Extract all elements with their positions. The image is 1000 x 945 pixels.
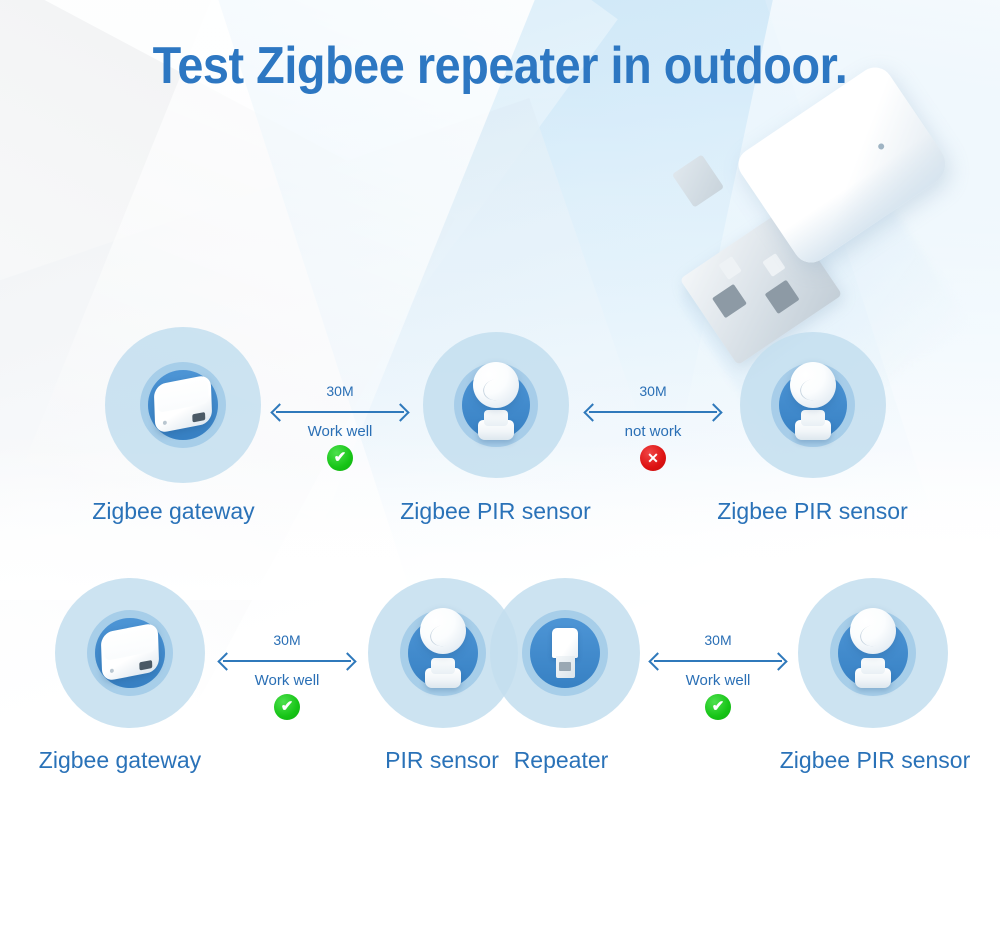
- link-distance-label: 30M: [219, 632, 355, 648]
- zigbee-pir-sensor-device: [418, 608, 468, 688]
- page-title: Test Zigbee repeater in outdoor.: [50, 36, 950, 96]
- pir-dome: [420, 608, 466, 654]
- promo-banner: Test Zigbee repeater in outdoor. Zigbee …: [0, 0, 1000, 945]
- arrow-head-right: [338, 652, 356, 670]
- link-status-label: Work well: [650, 672, 786, 689]
- link-distance-label: 30M: [650, 632, 786, 648]
- caption-zigbee-pir-sensor-row1-b: Zigbee PIR sensor: [639, 498, 986, 525]
- check-icon: ✔: [327, 445, 353, 471]
- zigbee-pir-sensor-device: [471, 362, 521, 440]
- node-zigbee-gateway-row1: [105, 327, 261, 483]
- pir-dome-seam: [858, 622, 889, 649]
- arrow-line: [223, 660, 351, 662]
- caption-zigbee-pir-sensor-row1-a: Zigbee PIR sensor: [322, 498, 669, 525]
- pir-neck: [431, 658, 455, 674]
- node-zigbee-pir-sensor-row1-b: [740, 332, 886, 478]
- pir-neck: [801, 410, 825, 426]
- repeater-housing: [552, 628, 578, 658]
- gateway-top-face: [157, 377, 209, 413]
- repeater-connector-slot: [559, 662, 571, 671]
- arrow-head-left: [648, 652, 666, 670]
- arrow-line: [276, 411, 404, 413]
- pir-neck: [861, 658, 885, 674]
- double-arrow-icon: [272, 403, 408, 421]
- node-zigbee-gateway-row2: [55, 578, 205, 728]
- node-repeater-row2: [490, 578, 640, 728]
- check-icon: ✔: [705, 694, 731, 720]
- caption-repeater-row2: Repeater: [456, 747, 666, 774]
- zigbee-pir-sensor-device: [848, 608, 898, 688]
- arrow-line: [589, 411, 717, 413]
- pir-dome: [850, 608, 896, 654]
- caption-zigbee-gateway-row2: Zigbee gateway: [0, 747, 240, 774]
- caption-zigbee-pir-sensor-row2: Zigbee PIR sensor: [760, 747, 990, 774]
- usb-slot: [765, 280, 800, 314]
- cross-icon: ✕: [640, 445, 666, 471]
- link-distance-label: 30M: [272, 383, 408, 399]
- usb-tab: [762, 253, 785, 277]
- arrow-head-left: [270, 403, 288, 421]
- node-zigbee-pir-sensor-row1-a: [423, 332, 569, 478]
- gateway-led-dot: [163, 420, 167, 425]
- pir-dome-seam: [481, 376, 512, 403]
- arrow-line: [654, 660, 782, 662]
- link-gateway-to-pir-row1: 30M Work well ✔: [272, 383, 408, 475]
- check-icon: ✔: [274, 694, 300, 720]
- link-status-label: Work well: [219, 672, 355, 689]
- double-arrow-icon: [650, 652, 786, 670]
- link-repeater-to-pir-row2: 30M Work well ✔: [650, 632, 786, 724]
- arrow-head-left: [583, 403, 601, 421]
- link-status-label: not work: [585, 423, 721, 440]
- usb-slot: [712, 284, 747, 318]
- pir-dome: [790, 362, 836, 408]
- link-pir-to-pir-row1: 30M not work ✕: [585, 383, 721, 475]
- gateway-top-face: [104, 625, 156, 661]
- double-arrow-icon: [219, 652, 355, 670]
- pir-dome: [473, 362, 519, 408]
- usb-tab: [718, 256, 741, 280]
- link-status-label: Work well: [272, 423, 408, 440]
- usb-led-hole: [877, 142, 885, 150]
- pir-dome-seam: [428, 622, 459, 649]
- arrow-head-left: [217, 652, 235, 670]
- gateway-port: [192, 412, 205, 423]
- pir-dome-seam: [798, 376, 829, 403]
- gateway-port: [139, 660, 152, 671]
- caption-zigbee-gateway-row1: Zigbee gateway: [0, 498, 347, 525]
- pir-neck: [484, 410, 508, 426]
- gateway-led-dot: [110, 668, 114, 673]
- arrow-head-right: [769, 652, 787, 670]
- zigbee-repeater-device: [540, 628, 590, 680]
- arrow-head-right: [704, 403, 722, 421]
- link-gateway-to-pir-row2: 30M Work well ✔: [219, 632, 355, 724]
- link-distance-label: 30M: [585, 383, 721, 399]
- node-zigbee-pir-sensor-row2: [798, 578, 948, 728]
- arrow-head-right: [391, 403, 409, 421]
- double-arrow-icon: [585, 403, 721, 421]
- zigbee-pir-sensor-device: [788, 362, 838, 440]
